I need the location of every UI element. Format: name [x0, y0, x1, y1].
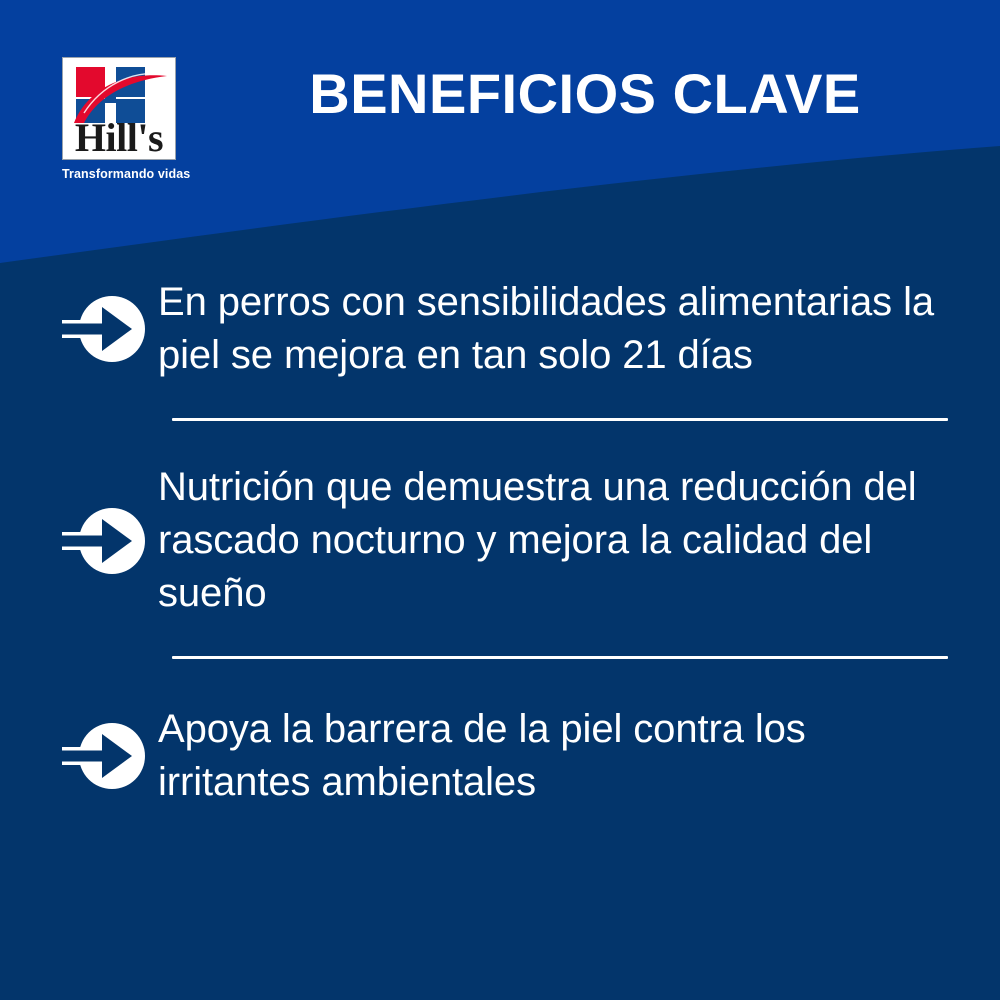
benefit-text: Apoya la barrera de la piel contra los i…	[152, 703, 948, 809]
page-title: BENEFICIOS CLAVE	[215, 62, 955, 126]
arrow-right-circle-icon	[56, 507, 152, 575]
benefit-item-2: Nutrición que demuestra una reducción de…	[0, 461, 1000, 620]
benefits-list: En perros con sensibilidades alimentaria…	[0, 276, 1000, 809]
promo-graphic: Hill's Transformando vidas BENEFICIOS CL…	[0, 0, 1000, 1000]
logo-wordmark: Hill's	[63, 118, 175, 158]
brand-tagline: Transformando vidas	[62, 167, 212, 181]
spacer	[0, 421, 1000, 461]
benefit-text: En perros con sensibilidades alimentaria…	[152, 276, 948, 382]
benefit-item-3: Apoya la barrera de la piel contra los i…	[0, 703, 1000, 809]
spacer	[0, 620, 1000, 656]
arrow-right-circle-icon	[56, 295, 152, 363]
logo-box: Hill's	[62, 57, 176, 160]
spacer	[0, 659, 1000, 703]
arrow-right-circle-icon	[56, 722, 152, 790]
benefit-item-1: En perros con sensibilidades alimentaria…	[0, 276, 1000, 382]
spacer	[0, 382, 1000, 418]
brand-logo: Hill's Transformando vidas	[62, 57, 176, 181]
benefit-text: Nutrición que demuestra una reducción de…	[152, 461, 948, 620]
